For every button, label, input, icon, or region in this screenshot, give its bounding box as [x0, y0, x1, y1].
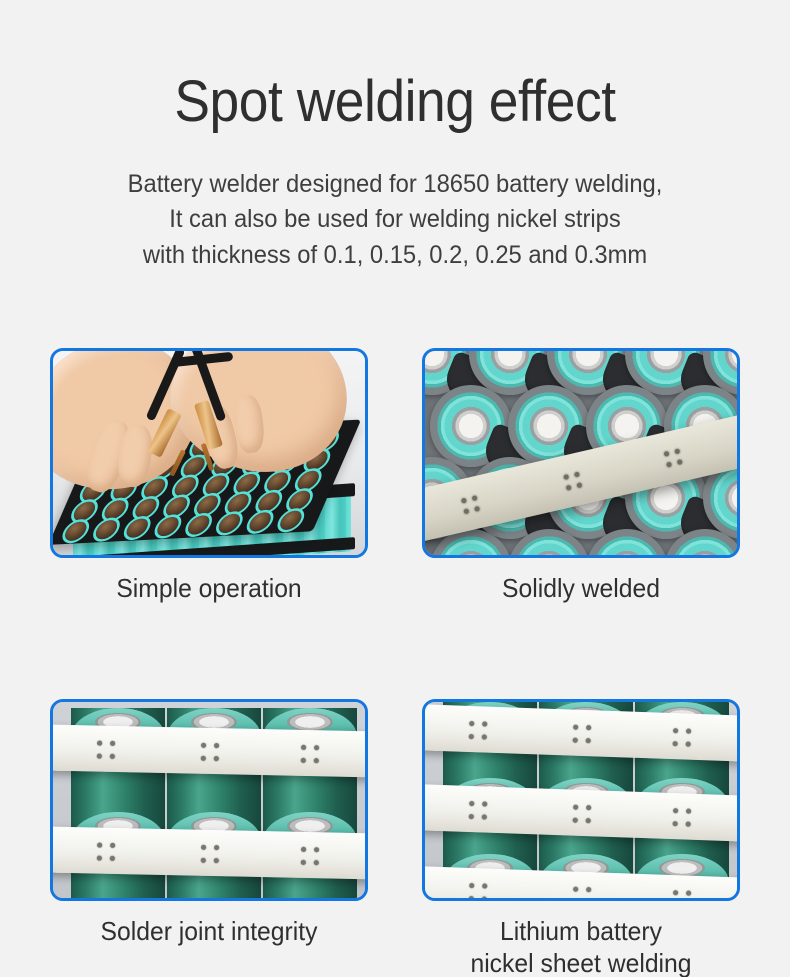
- photo-frame-simple-operation: [50, 348, 368, 558]
- nickel-strip: [53, 827, 365, 880]
- cell-hole: [255, 492, 283, 512]
- weld-dot: [97, 754, 102, 759]
- weld-dot: [586, 887, 591, 892]
- cell-hole: [294, 470, 322, 490]
- weld-dot: [673, 728, 678, 733]
- weld-dot: [314, 847, 319, 852]
- page-title: Spot welding effect: [32, 72, 759, 133]
- weld-dot: [674, 448, 680, 454]
- weld-dot: [686, 891, 691, 896]
- weld-dot: [469, 896, 474, 898]
- cell-hole: [224, 493, 252, 513]
- subtitle-line-2: It can also be used for welding nickel s…: [20, 202, 771, 238]
- weld-dot: [586, 818, 591, 823]
- caption-line: nickel sheet welding: [430, 947, 732, 977]
- cell-hole: [123, 518, 151, 538]
- photo-two-nickel-strips-on-green-cells: [53, 702, 365, 898]
- weld-dot: [472, 495, 478, 501]
- weld-dot: [301, 860, 306, 865]
- caption-line: Solder joint integrity: [58, 915, 360, 947]
- weld-dot: [469, 883, 474, 888]
- weld-dot: [482, 722, 487, 727]
- weld-dot: [686, 729, 691, 734]
- photo-frame-solidly-welded: [422, 348, 740, 558]
- weld-dot: [314, 745, 319, 750]
- weld-dot: [201, 858, 206, 863]
- weld-dot: [301, 745, 306, 750]
- subtitle-line-1: Battery welder designed for 18650 batter…: [20, 167, 771, 203]
- weld-dot: [201, 845, 206, 850]
- subtitle-line-3: with thickness of 0.1, 0.15, 0.2, 0.25 a…: [20, 238, 771, 274]
- feature-card-grid: Simple operation Solidly welded Solder j…: [50, 348, 740, 977]
- cell-hole: [163, 497, 191, 517]
- cell-hole: [171, 477, 199, 497]
- weld-dot: [573, 805, 578, 810]
- cell-hole: [286, 490, 314, 510]
- weld-dot: [673, 741, 678, 746]
- cell-hole: [233, 473, 261, 493]
- caption-line: Lithium battery: [430, 915, 732, 947]
- weld-dot: [214, 858, 219, 863]
- weld-dot: [482, 802, 487, 807]
- battery-cell-terminal: [287, 713, 332, 731]
- caption-line: Simple operation: [58, 572, 360, 604]
- caption-lithium-battery-nickel-sheet-welding: Lithium battery nickel sheet welding: [430, 915, 732, 977]
- weld-dot: [573, 738, 578, 743]
- weld-dot: [573, 725, 578, 730]
- photo-three-nickel-strips-on-green-cells: [425, 702, 737, 898]
- weld-dot: [97, 856, 102, 861]
- weld-dot: [586, 805, 591, 810]
- cell-hole: [246, 512, 274, 532]
- weld-dot: [673, 821, 678, 826]
- photo-frame-solder-joint-integrity: [50, 699, 368, 901]
- weld-dot: [686, 742, 691, 747]
- photo-frame-lithium-battery-nickel-sheet-welding: [422, 699, 740, 901]
- cell-hole: [132, 498, 160, 518]
- header: Spot welding effect Battery welder desig…: [0, 0, 790, 273]
- weld-dot: [586, 738, 591, 743]
- weld-dot: [314, 860, 319, 865]
- weld-dot: [301, 758, 306, 763]
- weld-dot: [201, 743, 206, 748]
- page-subtitle: Battery welder designed for 18650 batter…: [20, 167, 771, 274]
- weld-dot: [463, 508, 469, 514]
- weld-dot: [573, 887, 578, 892]
- feature-card-solder-joint-integrity: Solder joint integrity: [50, 699, 368, 977]
- cell-hole: [193, 495, 221, 515]
- weld-dot: [482, 815, 487, 820]
- weld-dot: [574, 472, 580, 478]
- weld-dot: [482, 735, 487, 740]
- feature-card-lithium-battery-nickel-sheet-welding: Lithium battery nickel sheet welding: [422, 699, 740, 977]
- weld-dot: [97, 843, 102, 848]
- cell-hole: [154, 517, 182, 537]
- weld-dot: [214, 845, 219, 850]
- feature-card-solidly-welded: Solidly welded: [422, 348, 740, 604]
- weld-dot: [314, 758, 319, 763]
- weld-dot: [686, 822, 691, 827]
- weld-dot: [586, 725, 591, 730]
- weld-dot: [214, 756, 219, 761]
- photo-nickel-strip-welded-across-cell-tops: [425, 351, 737, 555]
- weld-dot: [97, 741, 102, 746]
- weld-dot: [301, 847, 306, 852]
- weld-dot: [469, 814, 474, 819]
- weld-dot: [566, 485, 572, 491]
- cell-hole: [264, 472, 292, 492]
- cell-hole: [185, 515, 213, 535]
- caption-solidly-welded: Solidly welded: [430, 572, 732, 604]
- weld-dot: [576, 482, 582, 488]
- weld-dot: [474, 506, 480, 512]
- weld-dot: [666, 462, 672, 468]
- weld-dot: [482, 884, 487, 889]
- caption-solder-joint-integrity: Solder joint integrity: [58, 915, 360, 947]
- cell-hole: [216, 513, 244, 533]
- cell-hole: [202, 475, 230, 495]
- cell-hole: [93, 520, 121, 540]
- caption-simple-operation: Simple operation: [58, 572, 360, 604]
- photo-hands-spot-welding-18650-pack: [53, 351, 365, 555]
- weld-dot: [482, 897, 487, 899]
- weld-dot: [214, 743, 219, 748]
- infographic-page: Spot welding effect Battery welder desig…: [0, 0, 790, 977]
- weld-dot: [201, 756, 206, 761]
- weld-dot: [673, 808, 678, 813]
- weld-dot: [469, 734, 474, 739]
- weld-dot: [573, 818, 578, 823]
- weld-dot: [110, 754, 115, 759]
- weld-dot: [110, 843, 115, 848]
- weld-dot: [686, 809, 691, 814]
- cell-hole: [277, 510, 305, 530]
- feature-card-simple-operation: Simple operation: [50, 348, 368, 604]
- weld-dot: [469, 801, 474, 806]
- caption-line: Solidly welded: [430, 572, 732, 604]
- weld-dot: [677, 459, 683, 465]
- cell-hole: [71, 501, 99, 521]
- cell-hole: [180, 457, 208, 477]
- weld-dot: [461, 498, 467, 504]
- cell-hole: [101, 500, 129, 520]
- weld-dot: [563, 474, 569, 480]
- nickel-strip: [53, 725, 365, 778]
- weld-dot: [110, 856, 115, 861]
- weld-dot: [110, 741, 115, 746]
- weld-dot: [673, 890, 678, 895]
- weld-dot: [469, 721, 474, 726]
- cell-hole: [62, 521, 90, 541]
- weld-dot: [664, 451, 670, 457]
